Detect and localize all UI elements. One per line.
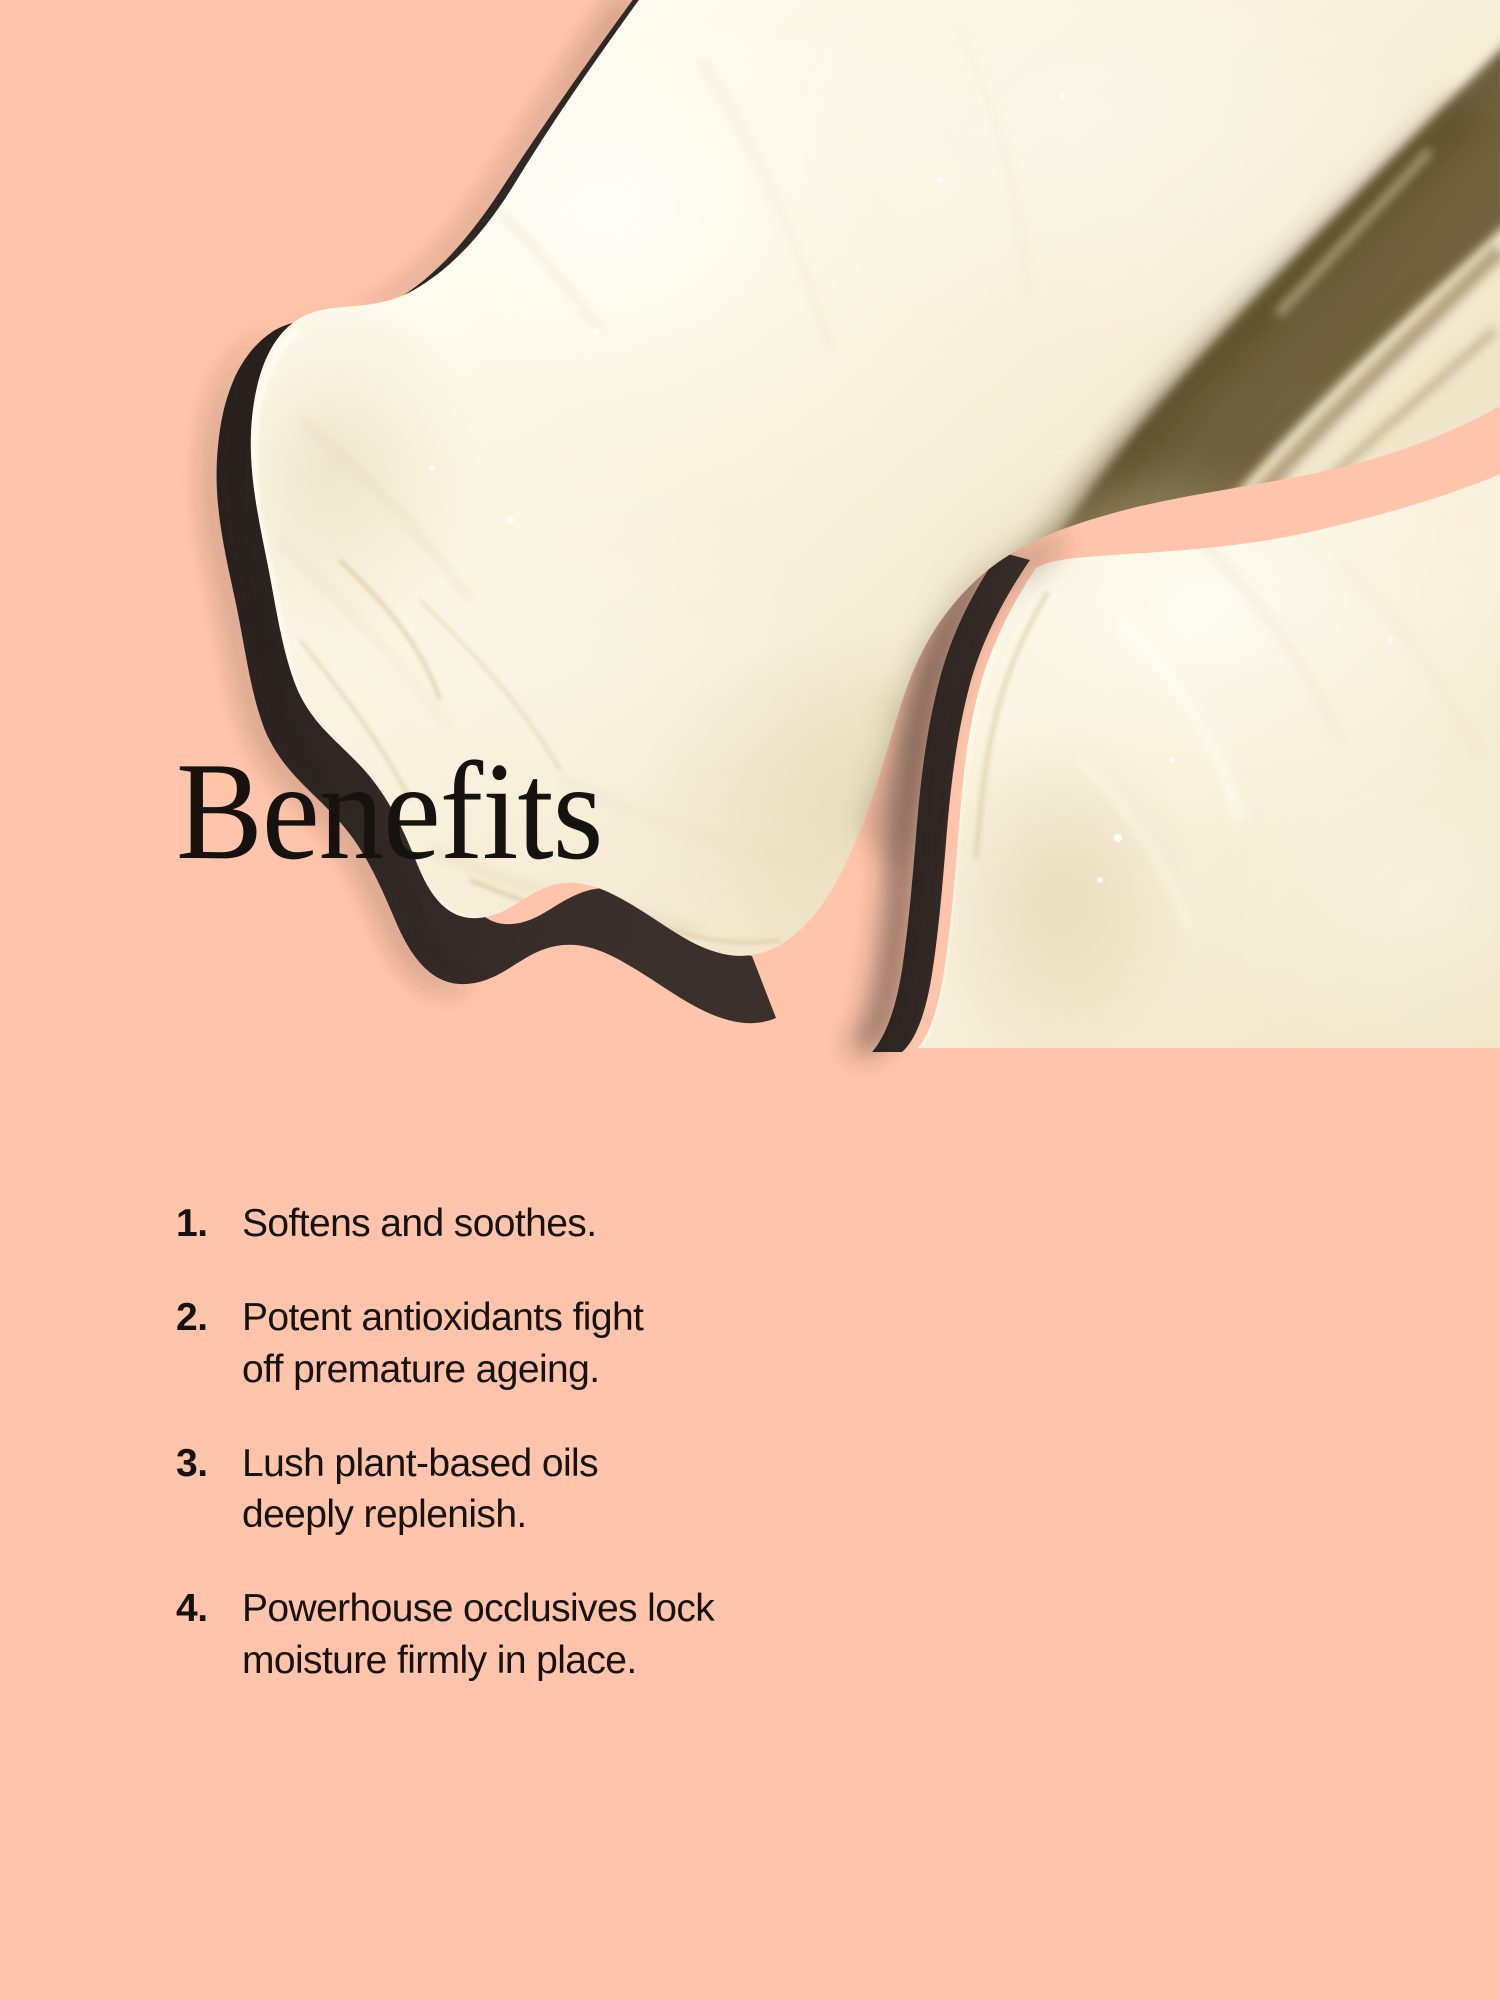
- list-item-number: 2.: [176, 1292, 242, 1344]
- cream-blob-right: [914, 470, 1500, 1080]
- list-item-text: Lush plant-based oils deeply replenish.: [242, 1438, 598, 1542]
- list-item-text: Powerhouse occlusives lock moisture firm…: [242, 1583, 714, 1687]
- list-item-number: 4.: [176, 1583, 242, 1635]
- cream-notch-shadow: [860, 528, 1062, 876]
- list-item: 2. Potent antioxidants fight off prematu…: [176, 1292, 976, 1396]
- poster-background: [0, 0, 1500, 2000]
- list-item-number: 3.: [176, 1438, 242, 1490]
- list-item: 1. Softens and soothes.: [176, 1198, 976, 1250]
- cream-texture-image: [0, 0, 1500, 2000]
- list-item-text: Potent antioxidants fight off premature …: [242, 1292, 643, 1396]
- list-item-number: 1.: [176, 1198, 242, 1250]
- cream-crevice: [996, 40, 1500, 755]
- list-item-text: Softens and soothes.: [242, 1198, 596, 1250]
- cream-shadow-right: [846, 540, 1030, 1052]
- list-item: 4. Powerhouse occlusives lock moisture f…: [176, 1583, 976, 1687]
- benefits-poster: Benefits 1. Softens and soothes. 2. Pote…: [0, 0, 1500, 2000]
- list-item: 3. Lush plant-based oils deeply replenis…: [176, 1438, 976, 1542]
- benefits-list: 1. Softens and soothes. 2. Potent antiox…: [176, 1198, 976, 1687]
- page-title: Benefits: [176, 742, 602, 882]
